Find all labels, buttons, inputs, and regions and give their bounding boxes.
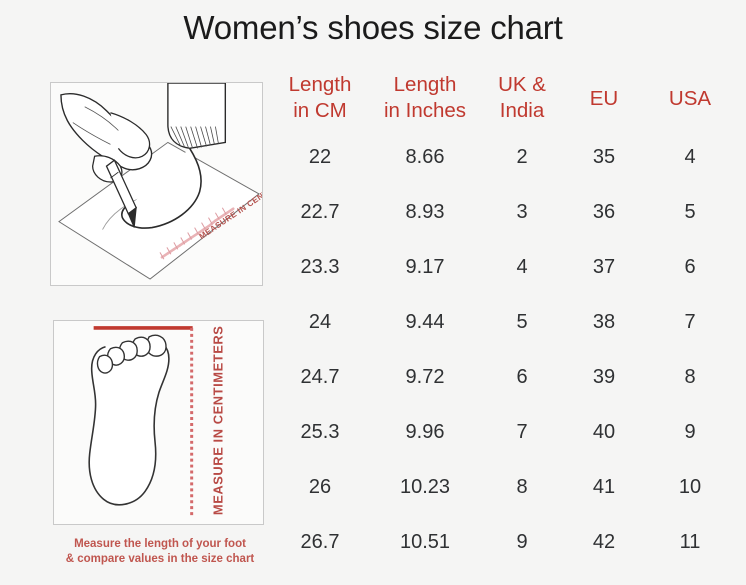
- cell-length-inches: 9.72: [370, 366, 480, 389]
- cell-usa: 10: [644, 476, 736, 499]
- column-header-eu: EU: [564, 64, 644, 112]
- caption-line-1: Measure the length of your foot: [40, 537, 280, 552]
- illustration-hand-tracing-foot: MEASURE IN CENTIMETERS: [50, 82, 263, 286]
- cell-usa: 11: [644, 531, 736, 554]
- cell-length-inches: 9.96: [370, 421, 480, 444]
- cell-usa: 8: [644, 366, 736, 389]
- cell-uk-india: 4: [480, 256, 564, 279]
- cell-uk-india: 7: [480, 421, 564, 444]
- cell-uk-india: 9: [480, 531, 564, 554]
- table-row: 24 9.44 5 38 7: [270, 295, 736, 350]
- hand-tracing-foot-icon: MEASURE IN CENTIMETERS: [51, 83, 262, 285]
- size-chart-table: Length in CM Length in Inches UK & India…: [270, 64, 736, 570]
- ruler-label-bottom: MEASURE IN CENTIMETERS: [210, 326, 225, 516]
- illustration-caption: Measure the length of your foot & compar…: [40, 537, 280, 566]
- cell-length-cm: 23.3: [270, 256, 370, 279]
- cell-length-cm: 26.7: [270, 531, 370, 554]
- table-row: 23.3 9.17 4 37 6: [270, 240, 736, 295]
- table-row: 25.3 9.96 7 40 9: [270, 405, 736, 460]
- cell-eu: 41: [564, 476, 644, 499]
- table-row: 26.7 10.51 9 42 11: [270, 515, 736, 570]
- cell-uk-india: 3: [480, 201, 564, 224]
- table-row: 24.7 9.72 6 39 8: [270, 350, 736, 405]
- page-title: Women’s shoes size chart: [0, 8, 746, 48]
- column-header-uk-india: UK & India: [480, 64, 564, 124]
- illustration-footprint-ruler: MEASURE IN CENTIMETERS: [53, 320, 264, 525]
- table-row: 22 8.66 2 35 4: [270, 130, 736, 185]
- cell-eu: 38: [564, 311, 644, 334]
- cell-length-cm: 24.7: [270, 366, 370, 389]
- cell-length-inches: 10.51: [370, 531, 480, 554]
- cell-usa: 5: [644, 201, 736, 224]
- cell-usa: 9: [644, 421, 736, 444]
- cell-length-inches: 8.93: [370, 201, 480, 224]
- cell-length-cm: 22.7: [270, 201, 370, 224]
- cell-usa: 7: [644, 311, 736, 334]
- cell-length-cm: 22: [270, 146, 370, 169]
- cell-length-inches: 8.66: [370, 146, 480, 169]
- cell-uk-india: 5: [480, 311, 564, 334]
- cell-length-inches: 9.17: [370, 256, 480, 279]
- cell-eu: 39: [564, 366, 644, 389]
- table-header-row: Length in CM Length in Inches UK & India…: [270, 64, 736, 130]
- cell-length-cm: 25.3: [270, 421, 370, 444]
- table-row: 26 10.23 8 41 10: [270, 460, 736, 515]
- cell-length-cm: 24: [270, 311, 370, 334]
- footprint-ruler-icon: MEASURE IN CENTIMETERS: [54, 321, 263, 524]
- cell-usa: 6: [644, 256, 736, 279]
- cell-length-inches: 10.23: [370, 476, 480, 499]
- cell-eu: 37: [564, 256, 644, 279]
- column-header-usa: USA: [644, 64, 736, 112]
- cell-eu: 42: [564, 531, 644, 554]
- cell-eu: 35: [564, 146, 644, 169]
- cell-uk-india: 8: [480, 476, 564, 499]
- table-row: 22.7 8.93 3 36 5: [270, 185, 736, 240]
- cell-uk-india: 6: [480, 366, 564, 389]
- cell-eu: 40: [564, 421, 644, 444]
- size-chart-page: Women’s shoes size chart: [0, 0, 746, 585]
- cell-length-cm: 26: [270, 476, 370, 499]
- cell-usa: 4: [644, 146, 736, 169]
- cell-uk-india: 2: [480, 146, 564, 169]
- column-header-length-inches: Length in Inches: [370, 64, 480, 124]
- cell-eu: 36: [564, 201, 644, 224]
- caption-line-2: & compare values in the size chart: [40, 552, 280, 567]
- column-header-length-cm: Length in CM: [270, 64, 370, 124]
- cell-length-inches: 9.44: [370, 311, 480, 334]
